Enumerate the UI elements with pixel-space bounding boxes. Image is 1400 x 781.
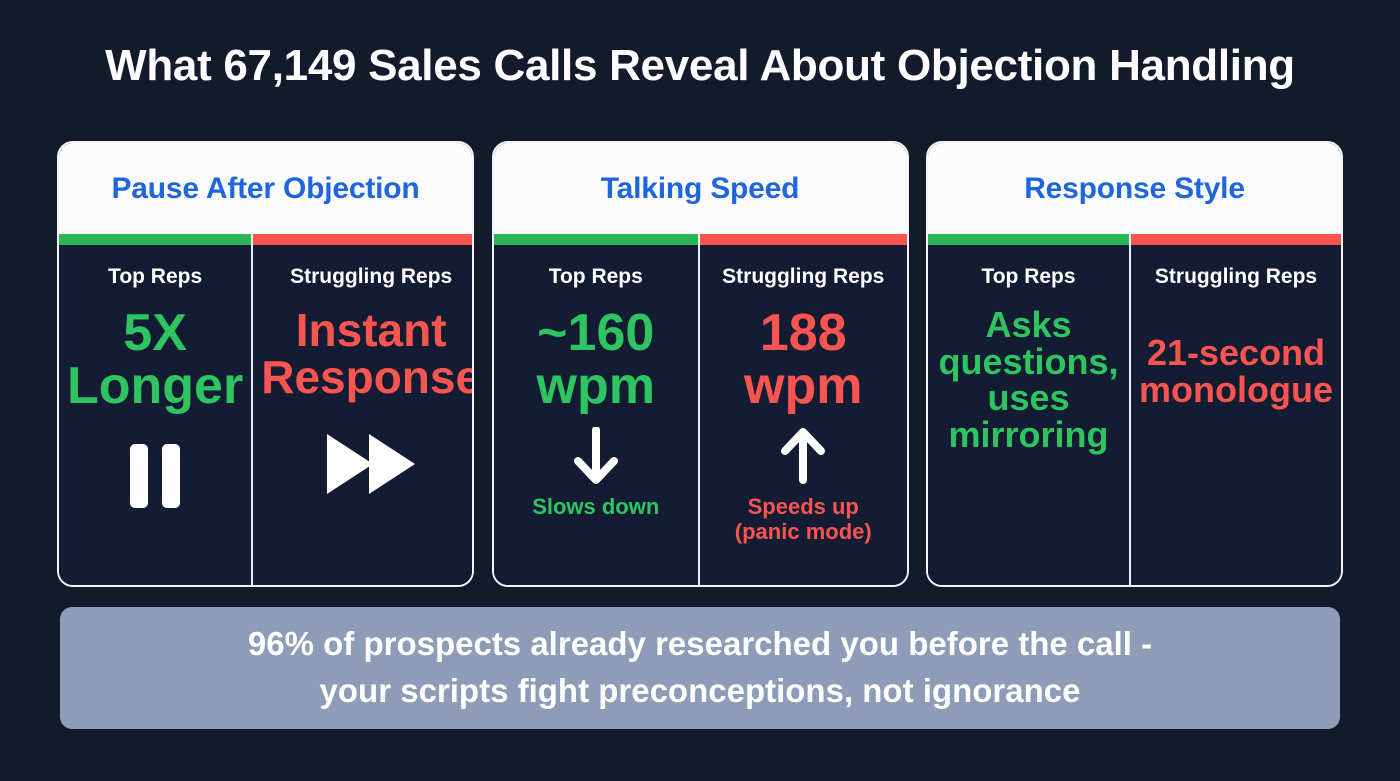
comparison-cards-row: Pause After Objection Top Reps 5X Longer <box>57 141 1343 587</box>
panel-content: 5X Longer <box>59 289 251 585</box>
fast-forward-icon <box>325 427 417 501</box>
footer-banner: 96% of prospects already researched you … <box>60 607 1340 729</box>
card-title: Talking Speed <box>601 172 800 206</box>
stat-value: Asks questions, uses mirroring <box>938 307 1118 454</box>
panel-struggling-reps: Struggling Reps 188 wpm Speeds up (panic… <box>700 234 907 585</box>
pause-icon <box>126 439 184 513</box>
panel-label: Top Reps <box>549 265 643 289</box>
panel-struggling-reps: Struggling Reps 21-second monologue <box>1131 234 1341 585</box>
stat-value: Instant Response <box>261 307 474 401</box>
panel-label: Top Reps <box>108 265 202 289</box>
panel-content: 188 wpm Speeds up (panic mode) <box>700 289 907 585</box>
card-header: Response Style <box>928 143 1341 234</box>
panel-content: Instant Response <box>253 289 474 585</box>
panel-top-reps: Top Reps 5X Longer <box>59 234 253 585</box>
panel-caption: Speeds up (panic mode) <box>735 495 872 544</box>
card-body: Top Reps Asks questions, uses mirroring … <box>928 234 1341 585</box>
panel-content: ~160 wpm Slows down <box>494 289 699 585</box>
card-talking-speed: Talking Speed Top Reps ~160 wpm <box>492 141 909 587</box>
page-title: What 67,149 Sales Calls Reveal About Obj… <box>0 42 1400 90</box>
accent-bar-green <box>59 234 251 245</box>
accent-bar-green <box>494 234 699 245</box>
panel-struggling-reps: Struggling Reps Instant Response <box>253 234 474 585</box>
accent-bar-green <box>928 234 1129 245</box>
panel-label: Struggling Reps <box>290 265 452 289</box>
accent-bar-red <box>1131 234 1341 245</box>
footer-text: 96% of prospects already researched you … <box>224 621 1176 715</box>
card-body: Top Reps 5X Longer Struggling Reps <box>59 234 472 585</box>
card-pause-after-objection: Pause After Objection Top Reps 5X Longer <box>57 141 474 587</box>
panel-label: Struggling Reps <box>1155 265 1317 289</box>
panel-label: Struggling Reps <box>722 265 884 289</box>
infographic-page: What 67,149 Sales Calls Reveal About Obj… <box>0 0 1400 781</box>
accent-bar-red <box>253 234 474 245</box>
card-response-style: Response Style Top Reps Asks questions, … <box>926 141 1343 587</box>
stat-value: 188 wpm <box>744 307 862 413</box>
panel-top-reps: Top Reps Asks questions, uses mirroring <box>928 234 1131 585</box>
card-title: Response Style <box>1024 172 1245 206</box>
accent-bar-red <box>700 234 907 245</box>
card-title: Pause After Objection <box>111 172 419 206</box>
card-header: Pause After Objection <box>59 143 472 234</box>
panel-caption: Slows down <box>532 495 659 520</box>
stat-value: ~160 wpm <box>537 307 655 413</box>
panel-label: Top Reps <box>981 265 1075 289</box>
stat-value: 21-second monologue <box>1139 335 1333 408</box>
stat-value: 5X Longer <box>67 307 243 413</box>
panel-content: Asks questions, uses mirroring <box>928 289 1129 585</box>
card-header: Talking Speed <box>494 143 907 234</box>
arrow-up-icon <box>777 425 829 487</box>
panel-top-reps: Top Reps ~160 wpm Slows down <box>494 234 701 585</box>
card-body: Top Reps ~160 wpm Slows down <box>494 234 907 585</box>
panel-content: 21-second monologue <box>1131 289 1341 585</box>
arrow-down-icon <box>570 425 622 487</box>
